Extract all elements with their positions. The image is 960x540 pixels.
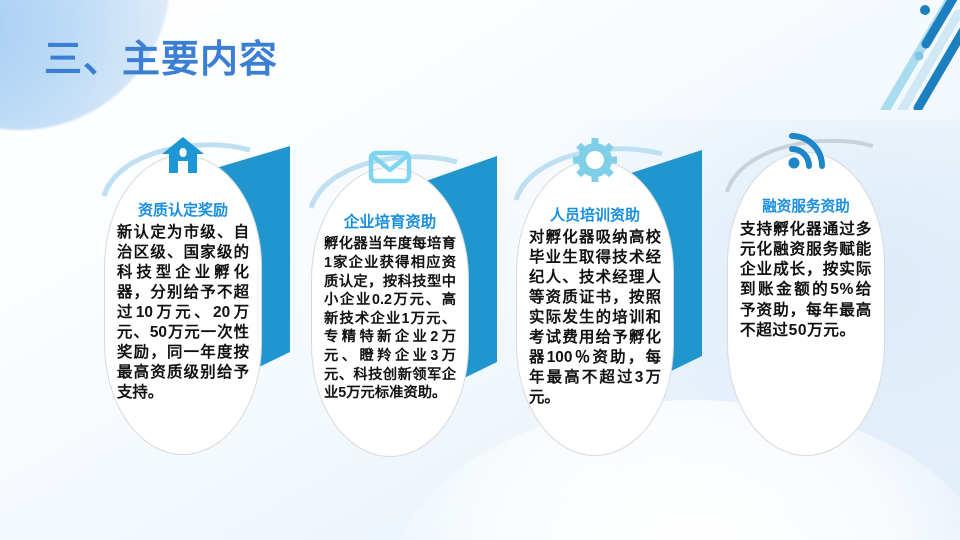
card-qualification-award[interactable]: 资质认定奖励 新认定为市级、自治区级、国家级的科技型企业孵化器，分别给予不超过1… (104, 155, 262, 455)
slide-canvas: 三、主要内容 资质认定奖励 (0, 0, 960, 540)
card-body: 支持孵化器通过多元化融资服务赋能企业成长，按实际到账金额的5%给予资助，每年最高… (736, 220, 876, 342)
card-title: 资质认定奖励 (113, 202, 253, 220)
envelope-icon (363, 142, 417, 192)
card-body: 新认定为市级、自治区级、国家级的科技型企业孵化器，分别给予不超过10万元、20万… (113, 223, 253, 403)
home-icon (156, 130, 210, 180)
card-personnel-training-subsidy[interactable]: 人员培训资助 对孵化器吸纳高校毕业生取得技术经纪人、技术经理人等资质证书，按照实… (516, 160, 674, 456)
cards-container: 资质认定奖励 新认定为市级、自治区级、国家级的科技型企业孵化器，分别给予不超过1… (0, 0, 960, 540)
card-title: 融资服务资助 (736, 199, 876, 217)
card-financing-service-subsidy[interactable]: 融资服务资助 支持孵化器通过多元化融资服务赋能企业成长，按实际到账金额的5%给予… (727, 152, 885, 456)
signal-icon (779, 127, 833, 177)
card-body: 对孵化器吸纳高校毕业生取得技术经纪人、技术经理人等资质证书，按照实际发生的培训和… (525, 228, 665, 408)
gear-icon (568, 135, 622, 185)
card-body: 孵化器当年度每培育1家企业获得相应资质认定，按科技型中小企业0.2万元、高新技术… (320, 235, 460, 402)
card-title: 人员培训资助 (525, 207, 665, 225)
card-enterprise-cultivation-subsidy[interactable]: 企业培育资助 孵化器当年度每培育1家企业获得相应资质认定，按科技型中小企业0.2… (311, 167, 469, 457)
card-title: 企业培育资助 (320, 214, 460, 232)
